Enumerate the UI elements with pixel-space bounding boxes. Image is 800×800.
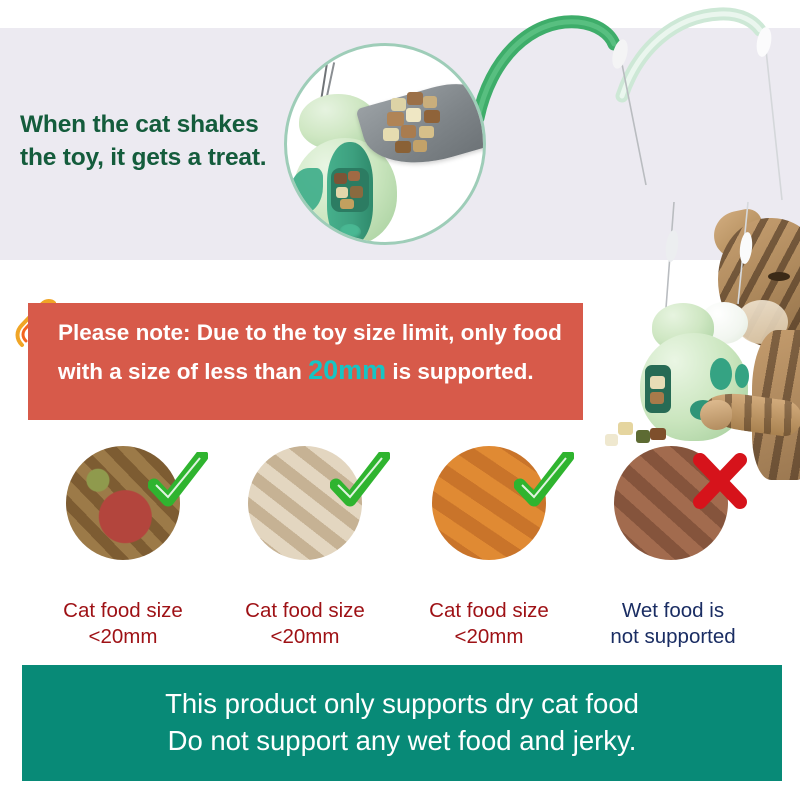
food-caption-1: Cat food size <20mm xyxy=(33,598,213,650)
food-caption-4-line-2: not supported xyxy=(583,624,763,650)
note-text-after: is supported. xyxy=(386,359,534,384)
summary-banner-line-2: Do not support any wet food and jerky. xyxy=(168,723,637,760)
check-mark-icon xyxy=(514,452,574,512)
toy-decor-dot-a xyxy=(710,358,732,390)
toy-food-window xyxy=(331,168,369,212)
food-caption-4-line-1: Wet food is xyxy=(583,598,763,624)
promo-infographic: When the cat shakes the toy, it gets a t… xyxy=(0,0,800,800)
food-caption-3: Cat food size <20mm xyxy=(399,598,579,650)
toy-main-food-window xyxy=(645,365,671,413)
check-mark-icon xyxy=(330,452,390,512)
spilled-kibble-b xyxy=(636,430,650,443)
check-mark-icon xyxy=(148,452,208,512)
note-highlight-size: 20mm xyxy=(308,355,386,385)
summary-banner: This product only supports dry cat food … xyxy=(22,665,782,781)
food-caption-2-line-2: <20mm xyxy=(215,624,395,650)
headline-line-1: When the cat shakes xyxy=(20,108,280,141)
size-limit-note-box: Please note: Due to the toy size limit, … xyxy=(28,303,583,420)
food-caption-1-line-1: Cat food size xyxy=(33,598,213,624)
toy-decor-dot-b xyxy=(735,364,749,388)
size-limit-note-text: Please note: Due to the toy size limit, … xyxy=(58,316,568,391)
food-caption-1-line-2: <20mm xyxy=(33,624,213,650)
food-caption-3-line-2: <20mm xyxy=(399,624,579,650)
spilled-kibble-d xyxy=(605,434,618,446)
food-caption-2: Cat food size <20mm xyxy=(215,598,395,650)
toy-feeding-closeup-inset xyxy=(284,43,486,245)
food-caption-4: Wet food is not supported xyxy=(583,598,763,650)
cat-paw xyxy=(700,400,732,430)
spilled-kibble-c xyxy=(650,428,666,440)
toy-kibble-a xyxy=(650,376,665,389)
summary-banner-line-1: This product only supports dry cat food xyxy=(165,686,639,723)
headline-text: When the cat shakes the toy, it gets a t… xyxy=(20,108,280,174)
spilled-kibble-a xyxy=(618,422,633,435)
food-caption-3-line-1: Cat food size xyxy=(399,598,579,624)
toy-kibble-b xyxy=(650,392,664,404)
toy-button xyxy=(339,224,361,240)
food-caption-2-line-1: Cat food size xyxy=(215,598,395,624)
headline-line-2: the toy, it gets a treat. xyxy=(20,141,280,174)
cross-mark-icon xyxy=(690,452,750,512)
